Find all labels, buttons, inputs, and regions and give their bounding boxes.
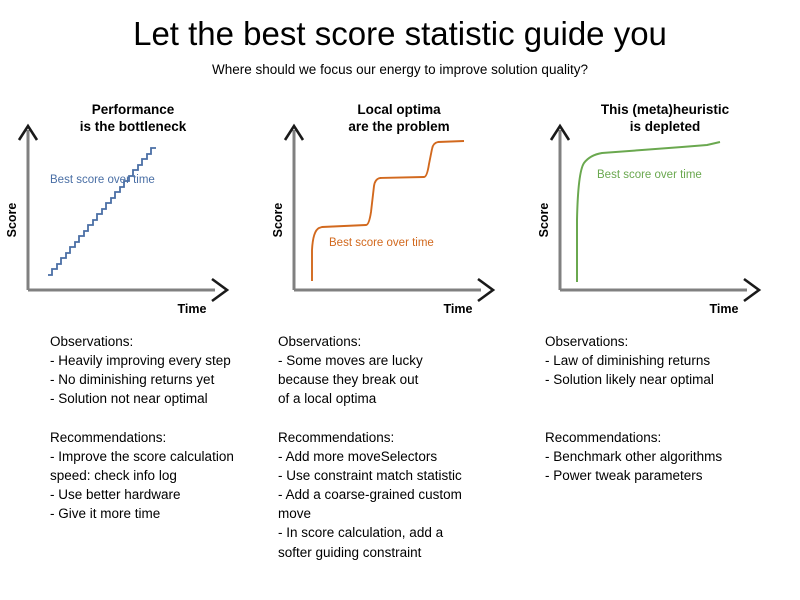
y-axis-label-3: Score [537,203,551,238]
recommendation-item: - Improve the score calculation [50,447,258,466]
observations-heading-1: Observations: [50,332,258,351]
series-line-2 [312,141,464,281]
recommendation-item: - Use constraint match statistic [278,466,524,485]
spacer [50,409,258,428]
spacer [545,389,790,408]
observation-item: of a local optima [278,389,524,408]
chart-2-graphic: Best score over time Score Time [266,100,532,325]
x-axis-label-1: Time [178,302,207,316]
recommendation-item: - Add more moveSelectors [278,447,524,466]
recommendation-item: - Add a coarse-grained custom [278,485,524,504]
page-title: Let the best score statistic guide you [0,16,800,52]
observations-heading-3: Observations: [545,332,790,351]
chart-1-graphic: Best score over time Score Time [0,100,266,325]
charts-row: Performance is the bottleneck Best score… [0,100,800,325]
text-column-2: Observations: - Some moves are lucky bec… [266,332,532,562]
recommendation-item: - Benchmark other algorithms [545,447,790,466]
spacer-line [545,408,790,427]
observation-item: because they break out [278,370,524,389]
x-axis-label-3: Time [710,302,739,316]
text-columns: Observations: - Heavily improving every … [0,332,800,562]
chart-3-graphic: Best score over time Score Time [532,100,798,325]
chart-panel-depleted: This (meta)heuristic is depleted Best sc… [532,100,798,325]
page-subtitle: Where should we focus our energy to impr… [0,62,800,77]
series-label-2: Best score over time [329,237,434,249]
recommendations-heading-2: Recommendations: [278,428,524,447]
chart-panel-local-optima: Local optima are the problem Best score … [266,100,532,325]
observation-item: - Solution likely near optimal [545,370,790,389]
x-axis-label-2: Time [444,302,473,316]
recommendations-heading-1: Recommendations: [50,428,258,447]
recommendation-item: - In score calculation, add a [278,523,524,542]
series-line-3 [577,142,720,282]
observation-item: - No diminishing returns yet [50,370,258,389]
series-line-1 [48,148,156,275]
observation-item: - Law of diminishing returns [545,351,790,370]
y-axis-label-1: Score [5,203,19,238]
observation-item: - Heavily improving every step [50,351,258,370]
text-column-3: Observations: - Law of diminishing retur… [532,332,798,562]
y-axis-label-2: Score [271,203,285,238]
observations-heading-2: Observations: [278,332,524,351]
series-label-1: Best score over time [50,174,155,186]
recommendation-item: - Use better hardware [50,485,258,504]
spacer [278,409,524,428]
series-label-3: Best score over time [597,169,702,181]
page-header: Let the best score statistic guide you W… [0,0,800,77]
observation-item: - Some moves are lucky [278,351,524,370]
text-column-1: Observations: - Heavily improving every … [0,332,266,562]
recommendation-item: speed: check info log [50,466,258,485]
recommendation-item: - Power tweak parameters [545,466,790,485]
recommendation-item: move [278,504,524,523]
chart-panel-performance: Performance is the bottleneck Best score… [0,100,266,325]
recommendation-item: softer guiding constraint [278,543,524,562]
recommendations-heading-3: Recommendations: [545,428,790,447]
observation-item: - Solution not near optimal [50,389,258,408]
recommendation-item: - Give it more time [50,504,258,523]
